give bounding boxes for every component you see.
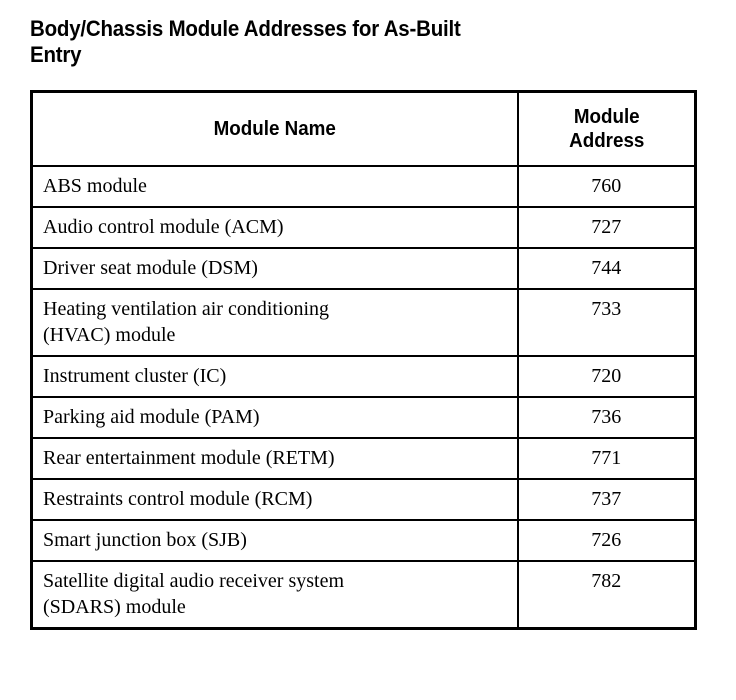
cell-module-name: Heating ventilation air conditioning (HV… bbox=[32, 289, 518, 356]
cell-module-name: Rear entertainment module (RETM) bbox=[32, 438, 518, 479]
cell-module-name: Audio control module (ACM) bbox=[32, 207, 518, 248]
column-header-module-address-line2: Address bbox=[524, 129, 689, 153]
module-name-text: Smart junction box (SJB) bbox=[43, 527, 509, 553]
module-address-text: 760 bbox=[523, 173, 691, 199]
module-name-text: Rear entertainment module (RETM) bbox=[43, 445, 509, 471]
cell-module-address: 782 bbox=[518, 561, 696, 629]
cell-module-address: 720 bbox=[518, 356, 696, 397]
module-name-text: Instrument cluster (IC) bbox=[43, 363, 509, 389]
module-name-text: Satellite digital audio receiver system … bbox=[43, 568, 509, 620]
module-address-text: 782 bbox=[523, 568, 691, 594]
document-page: Body/Chassis Module Addresses for As-Bui… bbox=[0, 0, 736, 700]
module-name-text: ABS module bbox=[43, 173, 509, 199]
cell-module-name: ABS module bbox=[32, 166, 518, 207]
module-name-text: Restraints control module (RCM) bbox=[43, 486, 509, 512]
table-row: Audio control module (ACM)727 bbox=[32, 207, 696, 248]
module-address-text: 727 bbox=[523, 214, 691, 240]
module-address-table: Module Name Module Address ABS module760… bbox=[30, 90, 697, 630]
cell-module-name: Smart junction box (SJB) bbox=[32, 520, 518, 561]
table-header-row: Module Name Module Address bbox=[32, 92, 696, 167]
cell-module-address: 727 bbox=[518, 207, 696, 248]
cell-module-address: 736 bbox=[518, 397, 696, 438]
cell-module-address: 737 bbox=[518, 479, 696, 520]
module-name-text: Parking aid module (PAM) bbox=[43, 404, 509, 430]
module-address-text: 733 bbox=[523, 296, 691, 322]
table-body: ABS module760Audio control module (ACM)7… bbox=[32, 166, 696, 629]
module-address-text: 771 bbox=[523, 445, 691, 471]
module-address-table-wrapper: Module Name Module Address ABS module760… bbox=[30, 90, 694, 630]
cell-module-name: Satellite digital audio receiver system … bbox=[32, 561, 518, 629]
column-header-module-address-line1: Module bbox=[524, 105, 689, 129]
module-address-text: 736 bbox=[523, 404, 691, 430]
cell-module-name: Driver seat module (DSM) bbox=[32, 248, 518, 289]
module-address-text: 726 bbox=[523, 527, 691, 553]
table-row: Rear entertainment module (RETM)771 bbox=[32, 438, 696, 479]
table-row: Smart junction box (SJB)726 bbox=[32, 520, 696, 561]
table-row: Restraints control module (RCM)737 bbox=[32, 479, 696, 520]
cell-module-address: 733 bbox=[518, 289, 696, 356]
page-title: Body/Chassis Module Addresses for As-Bui… bbox=[30, 16, 625, 68]
module-address-text: 744 bbox=[523, 255, 691, 281]
table-row: Parking aid module (PAM)736 bbox=[32, 397, 696, 438]
column-header-module-name: Module Name bbox=[32, 92, 518, 167]
table-header: Module Name Module Address bbox=[32, 92, 696, 167]
module-address-text: 737 bbox=[523, 486, 691, 512]
table-row: ABS module760 bbox=[32, 166, 696, 207]
cell-module-address: 771 bbox=[518, 438, 696, 479]
column-header-module-address: Module Address bbox=[518, 92, 696, 167]
cell-module-address: 760 bbox=[518, 166, 696, 207]
module-name-text: Heating ventilation air conditioning (HV… bbox=[43, 296, 509, 348]
table-row: Driver seat module (DSM)744 bbox=[32, 248, 696, 289]
cell-module-name: Restraints control module (RCM) bbox=[32, 479, 518, 520]
cell-module-address: 726 bbox=[518, 520, 696, 561]
table-row: Heating ventilation air conditioning (HV… bbox=[32, 289, 696, 356]
cell-module-name: Parking aid module (PAM) bbox=[32, 397, 518, 438]
table-row: Satellite digital audio receiver system … bbox=[32, 561, 696, 629]
module-name-text: Driver seat module (DSM) bbox=[43, 255, 509, 281]
module-address-text: 720 bbox=[523, 363, 691, 389]
cell-module-name: Instrument cluster (IC) bbox=[32, 356, 518, 397]
cell-module-address: 744 bbox=[518, 248, 696, 289]
column-header-module-name-label: Module Name bbox=[48, 117, 502, 141]
module-name-text: Audio control module (ACM) bbox=[43, 214, 509, 240]
table-row: Instrument cluster (IC)720 bbox=[32, 356, 696, 397]
